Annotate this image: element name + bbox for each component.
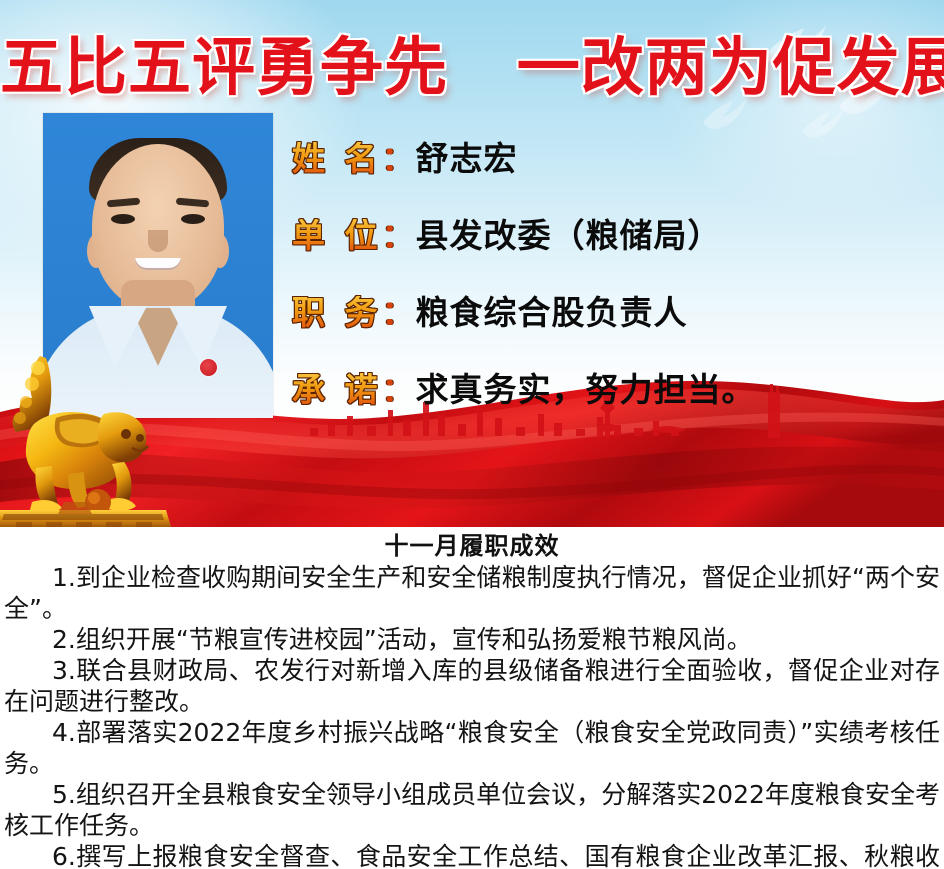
report-item: 3.联合县财政局、农发行对新增入库的县级储备粮进行全面验收，督促企业对存在问题进… (4, 655, 940, 717)
hero-header: 五比五评勇争先 一改两为促发展 (0, 0, 944, 536)
poster: 五比五评勇争先 一改两为促发展 (0, 0, 944, 869)
profile-value-name: 舒志宏 (416, 142, 518, 175)
report-body: 1.到企业检查收购期间安全生产和安全储粮制度执行情况，督促企业抓好“两个安全”。… (0, 561, 944, 869)
party-badge-icon (200, 359, 217, 376)
golden-lion-statue (0, 352, 174, 536)
report-item: 4.部署落实2022年度乡村振兴战略“粮食安全（粮食安全党政同责）”实绩考核任务… (4, 717, 940, 779)
report-item: 6.撰写上报粮食安全督查、食品安全工作总结、国有粮食企业改革汇报、秋粮收购工作落… (4, 841, 940, 869)
profile-row-unit: 单 位 ： 县发改委（粮储局） (292, 219, 912, 296)
report-item: 1.到企业检查收购期间安全生产和安全储粮制度执行情况，督促企业抓好“两个安全”。 (4, 562, 940, 624)
profile-label-position: 职 务 (292, 296, 382, 329)
profile-label-pledge: 承 诺 (292, 373, 382, 406)
profile-value-pledge: 求真务实，努力担当。 (416, 373, 756, 406)
report-item: 5.组织召开全县粮食安全领导小组成员单位会议，分解落实2022年度粮食安全考核工… (4, 779, 940, 841)
profile-colon: ： (382, 296, 415, 329)
profile-label-name: 姓 名 (292, 142, 382, 175)
dove-icon (800, 108, 846, 142)
profile-colon: ： (382, 142, 415, 175)
profile-label-unit: 单 位 (292, 219, 382, 252)
report-item: 2.组织开展“节粮宣传进校园”活动，宣传和弘扬爱粮节粮风尚。 (4, 624, 940, 655)
report-title: 十一月履职成效 (0, 527, 944, 561)
profile-info: 姓 名 ： 舒志宏 单 位 ： 县发改委（粮储局） 职 务 ： 粮食综合股负责人… (292, 142, 912, 450)
profile-value-unit: 县发改委（粮储局） (416, 219, 722, 252)
profile-row-position: 职 务 ： 粮食综合股负责人 (292, 296, 912, 373)
profile-row-name: 姓 名 ： 舒志宏 (292, 142, 912, 219)
poster-title: 五比五评勇争先 一改两为促发展 (0, 30, 944, 105)
report-section: 十一月履职成效 1.到企业检查收购期间安全生产和安全储粮制度执行情况，督促企业抓… (0, 527, 944, 869)
profile-row-pledge: 承 诺 ： 求真务实，努力担当。 (292, 373, 912, 450)
profile-colon: ： (382, 219, 415, 252)
profile-value-position: 粮食综合股负责人 (416, 296, 688, 329)
profile-colon: ： (382, 373, 415, 406)
